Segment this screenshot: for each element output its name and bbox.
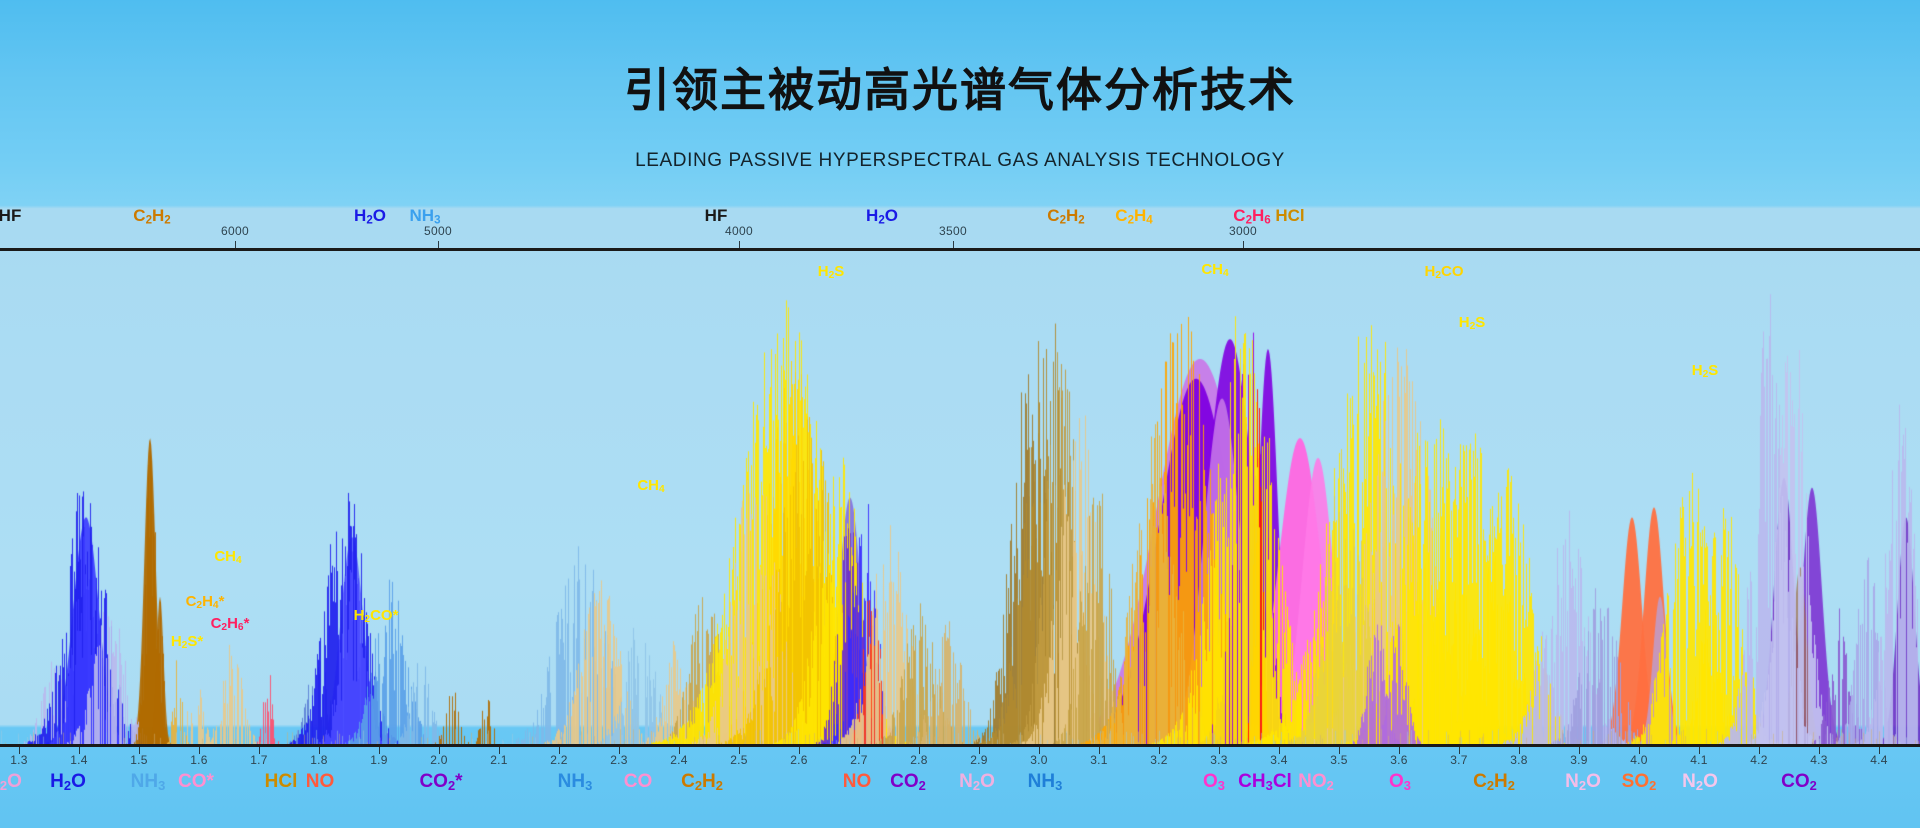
tick-mark-top [235, 241, 236, 248]
molecule-label-bottom: CO [624, 771, 653, 793]
tick-mark-top [1243, 241, 1244, 248]
tick-label-bottom: 2.7 [850, 753, 868, 767]
tick-mark-top [438, 241, 439, 248]
molecule-label-inplot: H2S [1692, 362, 1719, 380]
tick-label-bottom: 4.1 [1690, 753, 1708, 767]
molecule-label-bottom: O3 [1203, 771, 1225, 793]
molecule-label-top: H2O [866, 206, 898, 227]
molecule-label-top: HF [0, 206, 21, 226]
molecule-label-bottom: NH3 [131, 771, 166, 793]
hyperspectral-banner: 引领主被动高光谱气体分析技术 LEADING PASSIVE HYPERSPEC… [0, 0, 1920, 828]
tick-label-bottom: 2.9 [970, 753, 988, 767]
molecule-label-top: H2O [354, 206, 386, 227]
molecule-label-bottom: H2O [50, 771, 86, 793]
molecule-label-bottom: CH3Cl [1238, 771, 1292, 793]
molecule-label-bottom: NO2 [1298, 771, 1334, 793]
molecule-label-bottom: NH3 [558, 771, 593, 793]
molecule-label-inplot: CH4 [1201, 261, 1228, 279]
tick-label-bottom: 4.3 [1810, 753, 1828, 767]
molecule-label-bottom: NO [843, 771, 872, 793]
tick-label-bottom: 2.6 [790, 753, 808, 767]
tick-label-bottom: 2.1 [490, 753, 508, 767]
tick-label-top: 3500 [939, 224, 967, 238]
tick-label-bottom: 3.9 [1570, 753, 1588, 767]
tick-label-bottom: 3.4 [1270, 753, 1288, 767]
molecule-label-inplot: H2S* [171, 633, 203, 651]
molecule-label-top: C2H2 [133, 206, 170, 227]
molecule-label-top: C2H6 [1233, 206, 1270, 227]
axis-line-top [0, 248, 1920, 251]
molecule-label-bottom: O3 [1389, 771, 1411, 793]
tick-label-bottom: 1.5 [130, 753, 148, 767]
molecule-label-inplot: H2S [1459, 314, 1486, 332]
tick-label-bottom: 3.1 [1090, 753, 1108, 767]
molecule-label-top: NH3 [410, 206, 441, 227]
tick-label-bottom: 1.4 [70, 753, 88, 767]
tick-label-bottom: 3.5 [1330, 753, 1348, 767]
tick-label-bottom: 2.8 [910, 753, 928, 767]
tick-label-bottom: 3.8 [1510, 753, 1528, 767]
tick-label-bottom: 2.5 [730, 753, 748, 767]
tick-label-bottom: 2.4 [670, 753, 688, 767]
tick-label-bottom: 3.2 [1150, 753, 1168, 767]
molecule-label-bottom: NO [306, 771, 335, 793]
molecule-label-inplot: CH4 [637, 477, 664, 495]
molecule-label-bottom: CO* [178, 771, 214, 793]
tick-label-bottom: 3.3 [1210, 753, 1228, 767]
molecule-label-top: C2H2 [1047, 206, 1084, 227]
tick-label-bottom: 1.8 [310, 753, 328, 767]
tick-label-bottom: 4.4 [1870, 753, 1888, 767]
molecule-label-inplot: CH4 [214, 548, 241, 566]
tick-label-top: 4000 [725, 224, 753, 238]
tick-label-bottom: 2.2 [550, 753, 568, 767]
tick-mark-top [739, 241, 740, 248]
molecule-label-inplot: C2H4* [186, 593, 225, 611]
tick-label-bottom: 2.0 [430, 753, 448, 767]
molecule-label-bottom: CO2 [890, 771, 926, 793]
tick-label-bottom: 3.6 [1390, 753, 1408, 767]
molecule-label-bottom: NH3 [1028, 771, 1063, 793]
molecule-label-bottom: SO2 [1622, 771, 1657, 793]
molecule-label-inplot: C2H6* [211, 615, 250, 633]
molecule-label-bottom: N2O [1682, 771, 1718, 793]
molecule-label-bottom: HCl [265, 771, 298, 793]
tick-label-bottom: 4.0 [1630, 753, 1648, 767]
molecule-label-bottom: C2H2 [681, 771, 723, 793]
tick-label-bottom: 1.6 [190, 753, 208, 767]
molecule-label-bottom: CO2* [419, 771, 462, 793]
molecule-label-bottom: C2H2 [1473, 771, 1515, 793]
molecule-label-bottom: CO2 [1781, 771, 1817, 793]
axis-line-bottom [0, 744, 1920, 747]
tick-label-bottom: 4.2 [1750, 753, 1768, 767]
molecule-label-inplot: H2CO* [354, 607, 399, 625]
molecule-label-inplot: H2CO [1424, 263, 1463, 281]
molecule-label-top: C2H4 [1115, 206, 1152, 227]
tick-label-bottom: 2.3 [610, 753, 628, 767]
molecule-label-top: HCl [1275, 206, 1304, 226]
tick-label-bottom: 3.7 [1450, 753, 1468, 767]
molecule-label-top: HF [705, 206, 728, 226]
tick-label-bottom: 1.3 [10, 753, 28, 767]
axis-overlay: 60005000400035003000HFC2H2H2ONH3HFH2OC2H… [0, 0, 1920, 828]
molecule-label-bottom: N2O [959, 771, 995, 793]
tick-label-top: 6000 [221, 224, 249, 238]
molecule-label-inplot: H2S [818, 263, 845, 281]
tick-label-bottom: 1.9 [370, 753, 388, 767]
molecule-label-bottom: N2O [0, 771, 22, 793]
tick-mark-top [953, 241, 954, 248]
tick-label-bottom: 3.0 [1030, 753, 1048, 767]
molecule-label-bottom: N2O [1565, 771, 1601, 793]
tick-label-bottom: 1.7 [250, 753, 268, 767]
